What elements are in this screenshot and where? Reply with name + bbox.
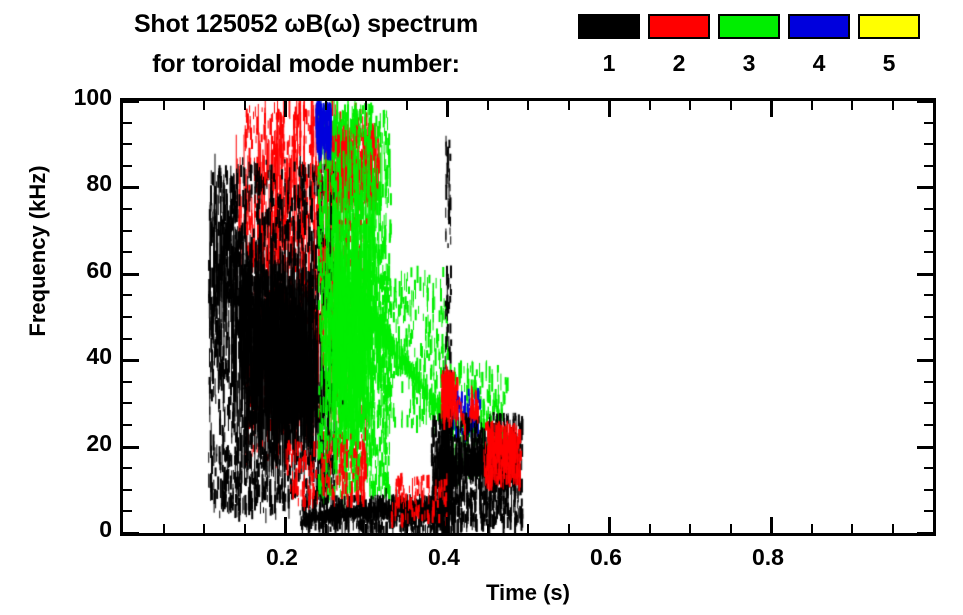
y-tick-minor (123, 143, 132, 145)
y-tick-minor (123, 510, 132, 512)
x-tick-minor (649, 524, 651, 533)
y-tick-minor-right (924, 402, 933, 404)
y-tick-label: 20 (0, 432, 112, 455)
x-tick-minor-top (649, 101, 651, 110)
x-tick-minor (365, 524, 367, 533)
y-tick-label: 80 (0, 172, 112, 195)
x-tick-minor (487, 524, 489, 533)
y-tick-minor-right (924, 122, 933, 124)
x-tick-minor-top (325, 101, 327, 110)
y-tick-label: 40 (0, 345, 112, 368)
legend-swatch-5 (858, 14, 920, 39)
x-tick-minor (163, 524, 165, 533)
y-tick-minor (123, 402, 132, 404)
x-tick-major-top (446, 101, 449, 117)
x-tick-minor-top (892, 101, 894, 110)
x-tick-minor (203, 524, 205, 533)
y-tick-minor-right (924, 338, 933, 340)
x-tick-minor-top (689, 101, 691, 110)
x-tick-minor-top (730, 101, 732, 110)
y-tick-major (123, 359, 139, 362)
y-tick-minor-right (924, 165, 933, 167)
legend-label-4: 4 (788, 51, 850, 75)
x-tick-minor-top (811, 101, 813, 110)
x-tick-major (284, 517, 287, 533)
y-tick-minor-right (924, 316, 933, 318)
legend-entry[interactable]: 5 (858, 14, 920, 75)
y-tick-minor (123, 251, 132, 253)
legend: 1 2 3 4 5 (578, 14, 948, 90)
legend-label-2: 2 (648, 51, 710, 75)
y-tick-minor (123, 122, 132, 124)
y-tick-minor-right (924, 381, 933, 383)
y-tick-minor-right (924, 510, 933, 512)
legend-entry[interactable]: 4 (788, 14, 850, 75)
x-tick-major (446, 517, 449, 533)
x-tick-minor-top (851, 101, 853, 110)
x-tick-minor-top (163, 101, 165, 110)
legend-swatch-2 (648, 14, 710, 39)
y-tick-minor (123, 489, 132, 491)
y-tick-minor-right (924, 208, 933, 210)
plot-frame (120, 98, 936, 536)
legend-entry[interactable]: 2 (648, 14, 710, 75)
y-tick-major (123, 186, 139, 189)
y-tick-major-right (917, 532, 933, 535)
x-tick-major (608, 517, 611, 533)
x-tick-label: 0.2 (222, 546, 342, 569)
plot-area (123, 101, 933, 533)
y-tick-major-right (917, 359, 933, 362)
y-tick-minor (123, 338, 132, 340)
y-tick-minor (123, 467, 132, 469)
y-tick-minor (123, 424, 132, 426)
y-tick-minor-right (924, 143, 933, 145)
y-tick-minor (123, 230, 132, 232)
x-tick-minor-top (406, 101, 408, 110)
x-tick-minor-top (568, 101, 570, 110)
x-tick-minor-top (365, 101, 367, 110)
x-tick-major (770, 517, 773, 533)
y-tick-minor (123, 208, 132, 210)
y-tick-minor (123, 165, 132, 167)
y-tick-major-right (917, 446, 933, 449)
x-tick-minor-top (203, 101, 205, 110)
x-tick-major-top (284, 101, 287, 117)
legend-entry[interactable]: 1 (578, 14, 640, 75)
x-tick-minor (325, 524, 327, 533)
y-tick-minor (123, 381, 132, 383)
x-tick-minor (689, 524, 691, 533)
legend-swatch-3 (718, 14, 780, 39)
figure-title: Shot 125052 ωB(ω) spectrum for toroidal … (0, 4, 560, 92)
spectrogram-canvas (123, 101, 933, 533)
x-axis-label: Time (s) (120, 580, 936, 606)
x-tick-minor (730, 524, 732, 533)
y-tick-minor-right (924, 230, 933, 232)
title-line-1: Shot 125052 ωB(ω) spectrum (0, 4, 560, 44)
y-tick-major-right (917, 100, 933, 103)
legend-label-1: 1 (578, 51, 640, 75)
legend-swatch-1 (578, 14, 640, 39)
x-tick-minor (244, 524, 246, 533)
title-line-1-text: Shot 125052 ωB(ω) spectrum (134, 10, 478, 38)
x-tick-minor (811, 524, 813, 533)
x-tick-minor (892, 524, 894, 533)
y-tick-major-right (917, 186, 933, 189)
x-tick-minor (851, 524, 853, 533)
x-tick-minor-top (527, 101, 529, 110)
x-tick-minor (406, 524, 408, 533)
legend-label-5: 5 (858, 51, 920, 75)
y-tick-minor-right (924, 251, 933, 253)
x-tick-major-top (770, 101, 773, 117)
y-tick-minor-right (924, 424, 933, 426)
y-tick-minor (123, 294, 132, 296)
y-tick-minor (123, 316, 132, 318)
y-tick-label: 0 (0, 518, 112, 541)
y-tick-minor-right (924, 467, 933, 469)
legend-entry[interactable]: 3 (718, 14, 780, 75)
y-tick-minor-right (924, 489, 933, 491)
y-axis-label: Frequency (kHz) (25, 131, 51, 371)
x-tick-minor (568, 524, 570, 533)
figure-root: Shot 125052 ωB(ω) spectrum for toroidal … (0, 0, 963, 615)
x-tick-label: 0.6 (546, 546, 666, 569)
x-tick-label: 0.4 (384, 546, 504, 569)
y-tick-minor-right (924, 294, 933, 296)
y-tick-major (123, 100, 139, 103)
y-tick-major-right (917, 273, 933, 276)
y-tick-label: 60 (0, 259, 112, 282)
x-tick-label: 0.8 (708, 546, 828, 569)
title-line-2: for toroidal mode number: (0, 44, 560, 84)
x-tick-major-top (608, 101, 611, 117)
x-tick-minor (527, 524, 529, 533)
y-tick-label: 100 (0, 86, 112, 109)
legend-swatch-4 (788, 14, 850, 39)
y-tick-major (123, 532, 139, 535)
y-tick-major (123, 273, 139, 276)
x-tick-minor-top (487, 101, 489, 110)
legend-label-3: 3 (718, 51, 780, 75)
y-tick-major (123, 446, 139, 449)
x-tick-minor-top (244, 101, 246, 110)
